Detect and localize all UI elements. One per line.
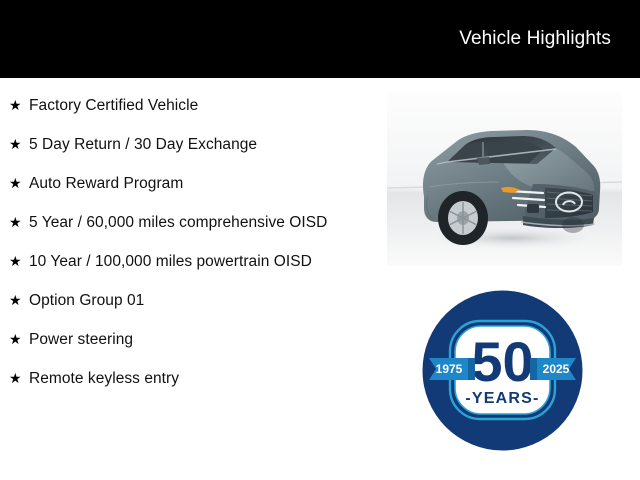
list-item: ★ Power steering [0, 329, 372, 350]
list-item-label: Auto Reward Program [29, 173, 372, 194]
list-item: ★ Option Group 01 [0, 290, 372, 311]
list-item: ★ Remote keyless entry [0, 368, 372, 389]
badge-years-label: -YEARS- [465, 390, 539, 407]
page-title: Vehicle Highlights [459, 28, 611, 50]
list-item: ★ 5 Day Return / 30 Day Exchange [0, 134, 372, 155]
list-item-label: Power steering [29, 329, 372, 350]
star-bullet-icon: ★ [9, 173, 29, 194]
list-item: ★ Factory Certified Vehicle [0, 95, 372, 116]
star-bullet-icon: ★ [9, 212, 29, 233]
badge-number: 50 [471, 330, 533, 393]
vehicle-highlights-list: ★ Factory Certified Vehicle ★ 5 Day Retu… [0, 78, 372, 389]
vehicle-photo [387, 92, 622, 266]
list-item: ★ Auto Reward Program [0, 173, 372, 194]
list-item-label: 5 Year / 60,000 miles comprehensive OISD [29, 212, 372, 233]
list-item-label: Factory Certified Vehicle [29, 95, 372, 116]
badge-start-year: 1975 [436, 362, 463, 376]
star-bullet-icon: ★ [9, 290, 29, 311]
list-item-label: Remote keyless entry [29, 368, 372, 389]
list-item-label: 10 Year / 100,000 miles powertrain OISD [29, 251, 372, 272]
star-bullet-icon: ★ [9, 368, 29, 389]
anniversary-badge: 50 -YEARS- 1975 2025 [421, 289, 584, 452]
badge-end-year: 2025 [543, 362, 570, 376]
star-bullet-icon: ★ [9, 251, 29, 272]
list-item-label: 5 Day Return / 30 Day Exchange [29, 134, 372, 155]
list-item-label: Option Group 01 [29, 290, 372, 311]
list-item: ★ 5 Year / 60,000 miles comprehensive OI… [0, 212, 372, 233]
list-item: ★ 10 Year / 100,000 miles powertrain OIS… [0, 251, 372, 272]
star-bullet-icon: ★ [9, 134, 29, 155]
star-bullet-icon: ★ [9, 329, 29, 350]
header-bar: Vehicle Highlights [0, 0, 640, 78]
star-bullet-icon: ★ [9, 95, 29, 116]
